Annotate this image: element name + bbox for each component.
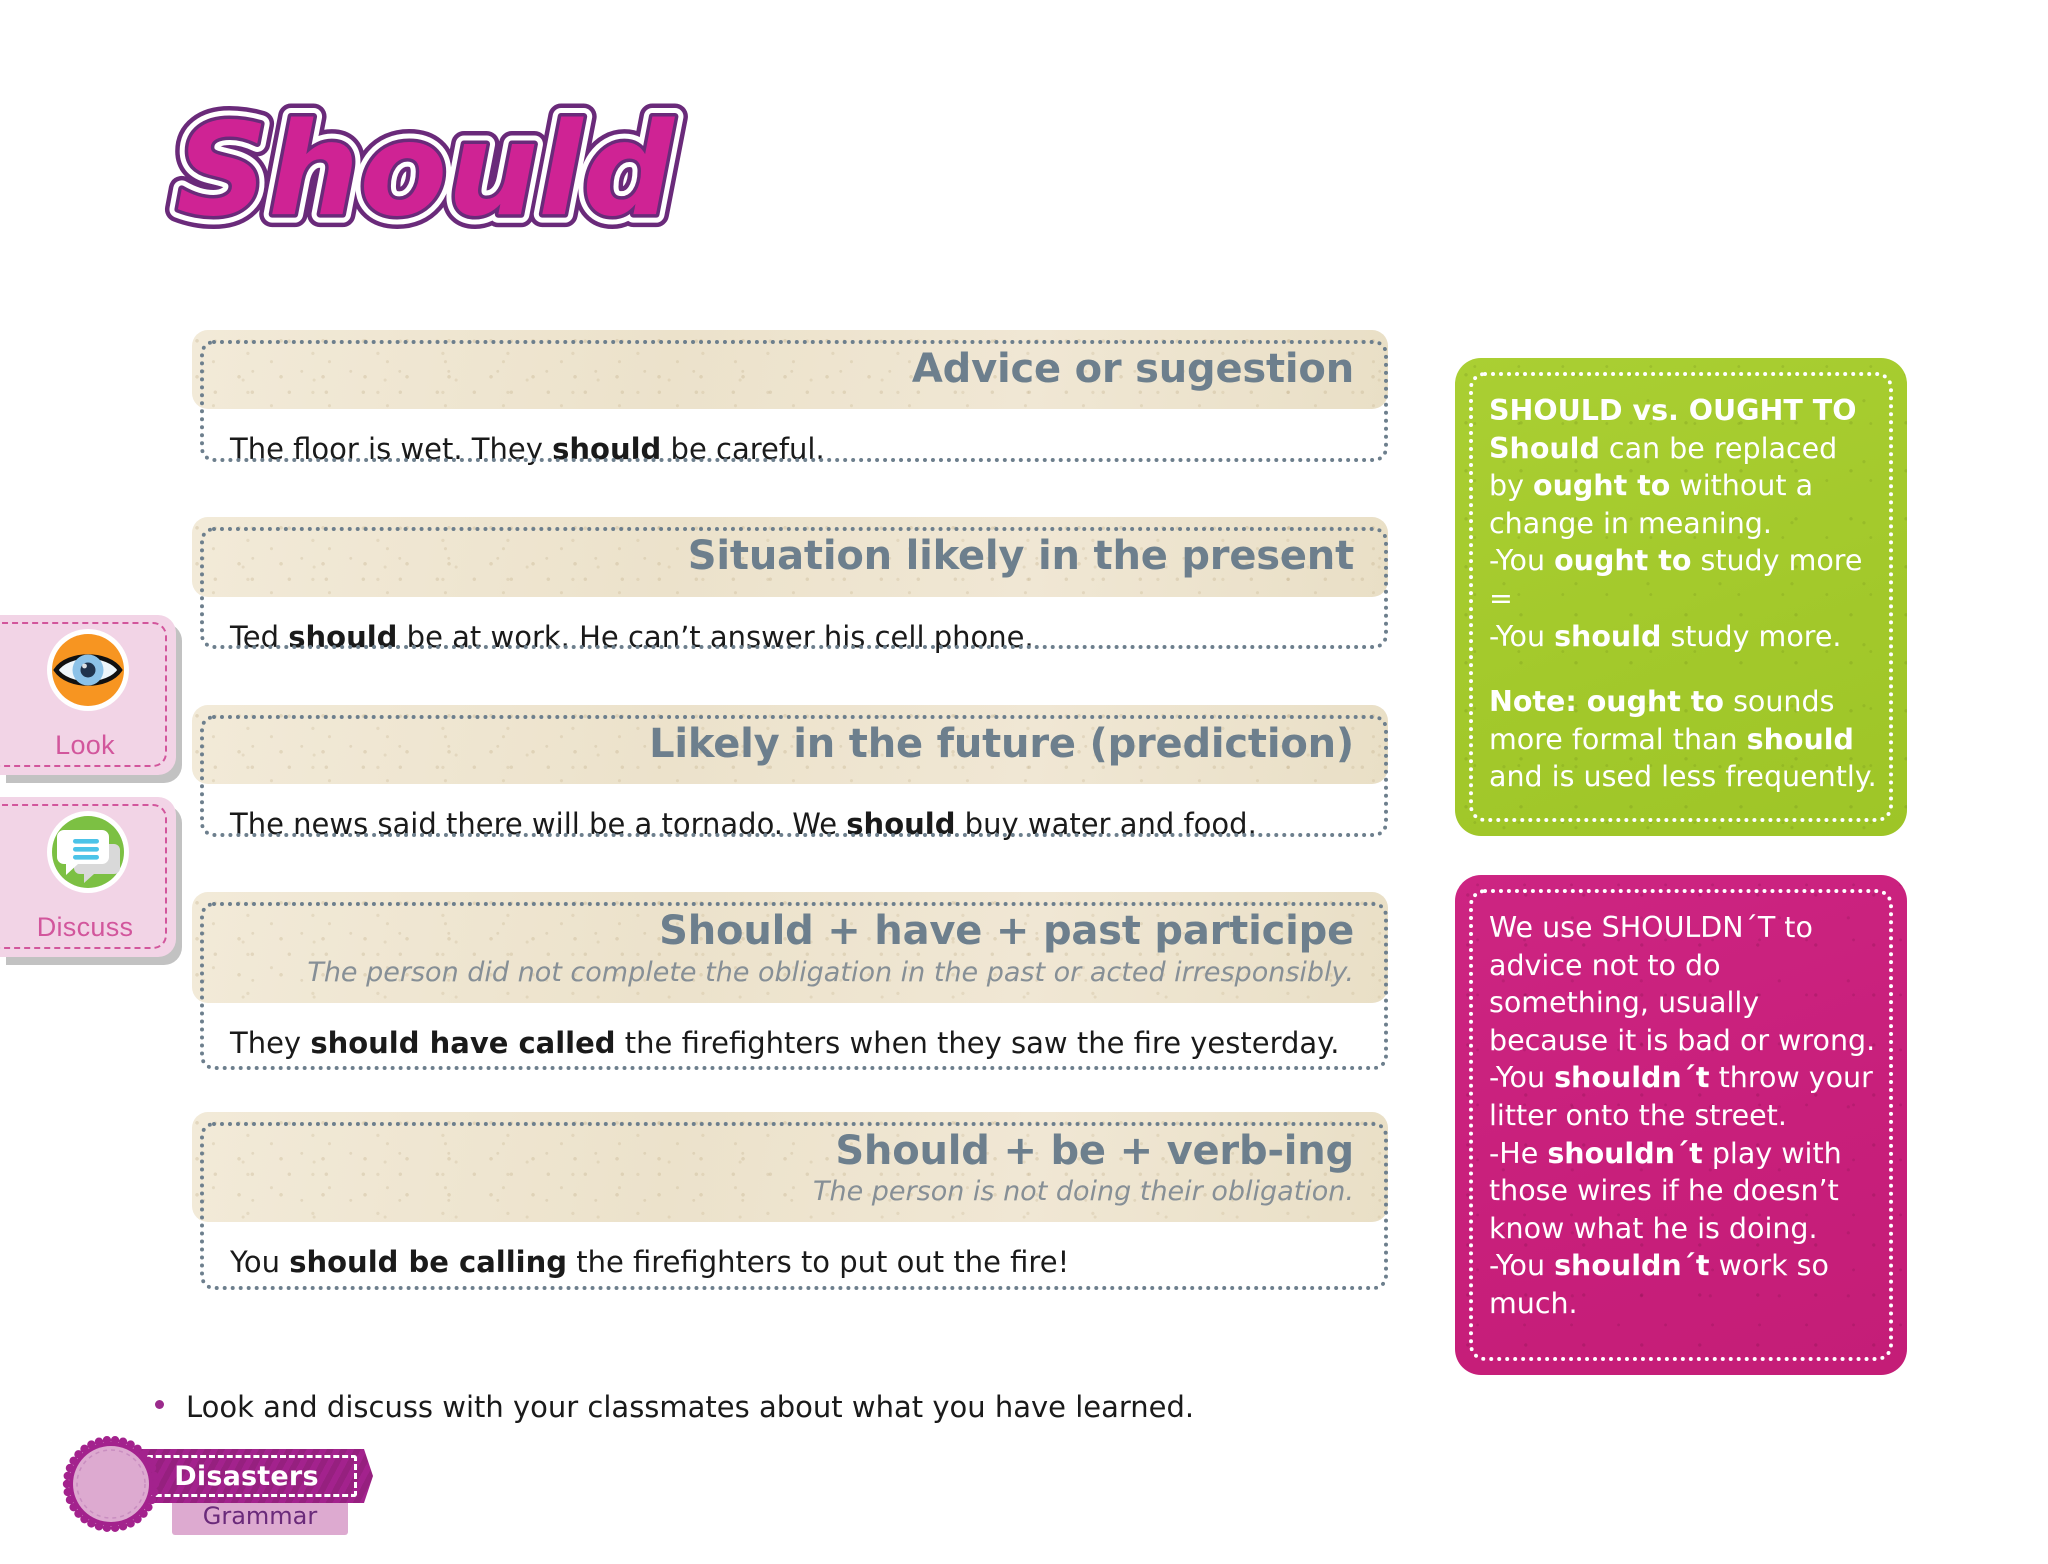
callout-line: We use SHOULDN´T to advice not to do som… bbox=[1489, 909, 1877, 1059]
callout-shouldnt: We use SHOULDN´T to advice not to do som… bbox=[1455, 875, 1907, 1375]
example-text-bold: should have called bbox=[310, 1026, 615, 1060]
callout-emphasis: ought to bbox=[1554, 544, 1691, 577]
callout-emphasis: shouldn´t bbox=[1554, 1061, 1709, 1094]
instruction-text: Look and discuss with your classmates ab… bbox=[186, 1390, 1194, 1424]
example-text-post: be at work. He can’t answer his cell pho… bbox=[397, 620, 1033, 654]
chapter-label: Disasters bbox=[130, 1449, 363, 1503]
grammar-block: Situation likely in the present Ted shou… bbox=[200, 517, 1395, 678]
block-heading: Advice or sugestion bbox=[232, 348, 1354, 391]
callout-emphasis: should bbox=[1747, 723, 1854, 756]
callout-line: Should can be replaced by ought to witho… bbox=[1489, 430, 1877, 543]
example-text-bold: should bbox=[846, 807, 955, 841]
block-example: The floor is wet. They should be careful… bbox=[200, 409, 1395, 491]
callout-emphasis: shouldn´t bbox=[1547, 1137, 1702, 1170]
callout-line: -You ought to study more = bbox=[1489, 542, 1877, 617]
sidebar-item-discuss-label: Discuss bbox=[0, 912, 170, 943]
callout-green-body: Should can be replaced by ought to witho… bbox=[1489, 430, 1877, 796]
callout-text: We use SHOULDN´T to advice not to do som… bbox=[1489, 911, 1875, 1057]
callout-should-vs-ought-to: SHOULD vs. OUGHT TO Should can be replac… bbox=[1455, 358, 1907, 836]
callout-line: -You shouldn´t throw your litter onto th… bbox=[1489, 1059, 1877, 1134]
instruction-bullet: Look and discuss with your classmates ab… bbox=[155, 1390, 1194, 1424]
example-text-bold: should bbox=[552, 432, 661, 466]
callout-text: -You bbox=[1489, 620, 1554, 653]
example-text-pre: The floor is wet. They bbox=[230, 432, 552, 466]
callout-pink-body: We use SHOULDN´T to advice not to do som… bbox=[1489, 909, 1877, 1323]
callout-text: -He bbox=[1489, 1137, 1547, 1170]
sidebar-item-look[interactable]: Look bbox=[0, 615, 176, 775]
grammar-block: Should + be + verb-ing The person is not… bbox=[200, 1112, 1395, 1305]
callout-green-title: SHOULD vs. OUGHT TO bbox=[1489, 392, 1877, 430]
example-text-pre: You bbox=[230, 1245, 289, 1279]
block-header-bar: Advice or sugestion bbox=[192, 330, 1388, 409]
callout-line-spacer bbox=[1489, 655, 1877, 683]
grammar-block: Likely in the future (prediction) The ne… bbox=[200, 705, 1395, 866]
block-example: You should be calling the firefighters t… bbox=[200, 1222, 1395, 1304]
example-text-bold: should bbox=[288, 620, 397, 654]
grammar-block: Advice or sugestion The floor is wet. Th… bbox=[200, 330, 1395, 491]
block-example: Ted should be at work. He can’t answer h… bbox=[200, 597, 1395, 679]
example-text-bold: should be calling bbox=[289, 1245, 567, 1279]
callout-emphasis: ought to bbox=[1533, 469, 1670, 502]
block-heading: Situation likely in the present bbox=[232, 535, 1354, 578]
example-text-pre: The news said there will be a tornado. W… bbox=[230, 807, 846, 841]
page-title-logo: Should Should Should Should bbox=[168, 96, 638, 246]
callout-emphasis: Should bbox=[1489, 432, 1600, 465]
sidebar-item-discuss[interactable]: Discuss bbox=[0, 797, 176, 957]
page-number-badge bbox=[62, 1435, 160, 1533]
callout-line: -He shouldn´t play with those wires if h… bbox=[1489, 1135, 1877, 1248]
textbook-page: Should Should Should Should Look bbox=[0, 0, 2048, 1564]
chapter-banner: Disasters bbox=[130, 1449, 373, 1503]
callout-text: and is used less frequently. bbox=[1489, 760, 1877, 793]
bullet-dot-icon bbox=[155, 1400, 164, 1409]
example-text-post: the firefighters to put out the fire! bbox=[567, 1245, 1069, 1279]
grammar-block: Should + have + past participe The perso… bbox=[200, 892, 1395, 1085]
example-text-post: the firefighters when they saw the fire … bbox=[616, 1026, 1340, 1060]
callout-emphasis: Note: ought to bbox=[1489, 685, 1724, 718]
sidebar-item-look-label: Look bbox=[0, 730, 170, 761]
block-heading: Likely in the future (prediction) bbox=[232, 723, 1354, 766]
eye-icon bbox=[47, 629, 129, 711]
callout-line: -You shouldn´t work so much. bbox=[1489, 1247, 1877, 1322]
logo-fill: Should bbox=[176, 96, 675, 245]
example-text-pre: They bbox=[230, 1026, 310, 1060]
speech-bubbles-icon bbox=[47, 811, 129, 893]
block-header-bar: Likely in the future (prediction) bbox=[192, 705, 1388, 784]
callout-emphasis: should bbox=[1554, 620, 1661, 653]
block-subheading: The person is not doing their obligation… bbox=[232, 1175, 1354, 1209]
grammar-blocks: Advice or sugestion The floor is wet. Th… bbox=[200, 330, 1395, 1331]
example-text-post: buy water and food. bbox=[955, 807, 1256, 841]
block-example: The news said there will be a tornado. W… bbox=[200, 784, 1395, 866]
block-subheading: The person did not complete the obligati… bbox=[232, 956, 1354, 990]
callout-text: -You bbox=[1489, 544, 1554, 577]
callout-text: study more. bbox=[1661, 620, 1841, 653]
example-text-post: be careful. bbox=[661, 432, 824, 466]
callout-text: -You bbox=[1489, 1061, 1554, 1094]
example-text-pre: Ted bbox=[230, 620, 288, 654]
callout-emphasis: shouldn´t bbox=[1554, 1249, 1709, 1282]
callout-text: -You bbox=[1489, 1249, 1554, 1282]
block-header-bar: Should + be + verb-ing The person is not… bbox=[192, 1112, 1388, 1223]
callout-line: -You should study more. bbox=[1489, 618, 1877, 656]
block-header-bar: Should + have + past participe The perso… bbox=[192, 892, 1388, 1003]
block-heading: Should + have + past participe bbox=[232, 910, 1354, 953]
block-example: They should have called the firefighters… bbox=[200, 1003, 1395, 1085]
callout-line: Note: ought to sounds more formal than s… bbox=[1489, 683, 1877, 796]
block-header-bar: Situation likely in the present bbox=[192, 517, 1388, 596]
sidebar: Look Discuss bbox=[0, 615, 176, 979]
block-heading: Should + be + verb-ing bbox=[232, 1130, 1354, 1173]
